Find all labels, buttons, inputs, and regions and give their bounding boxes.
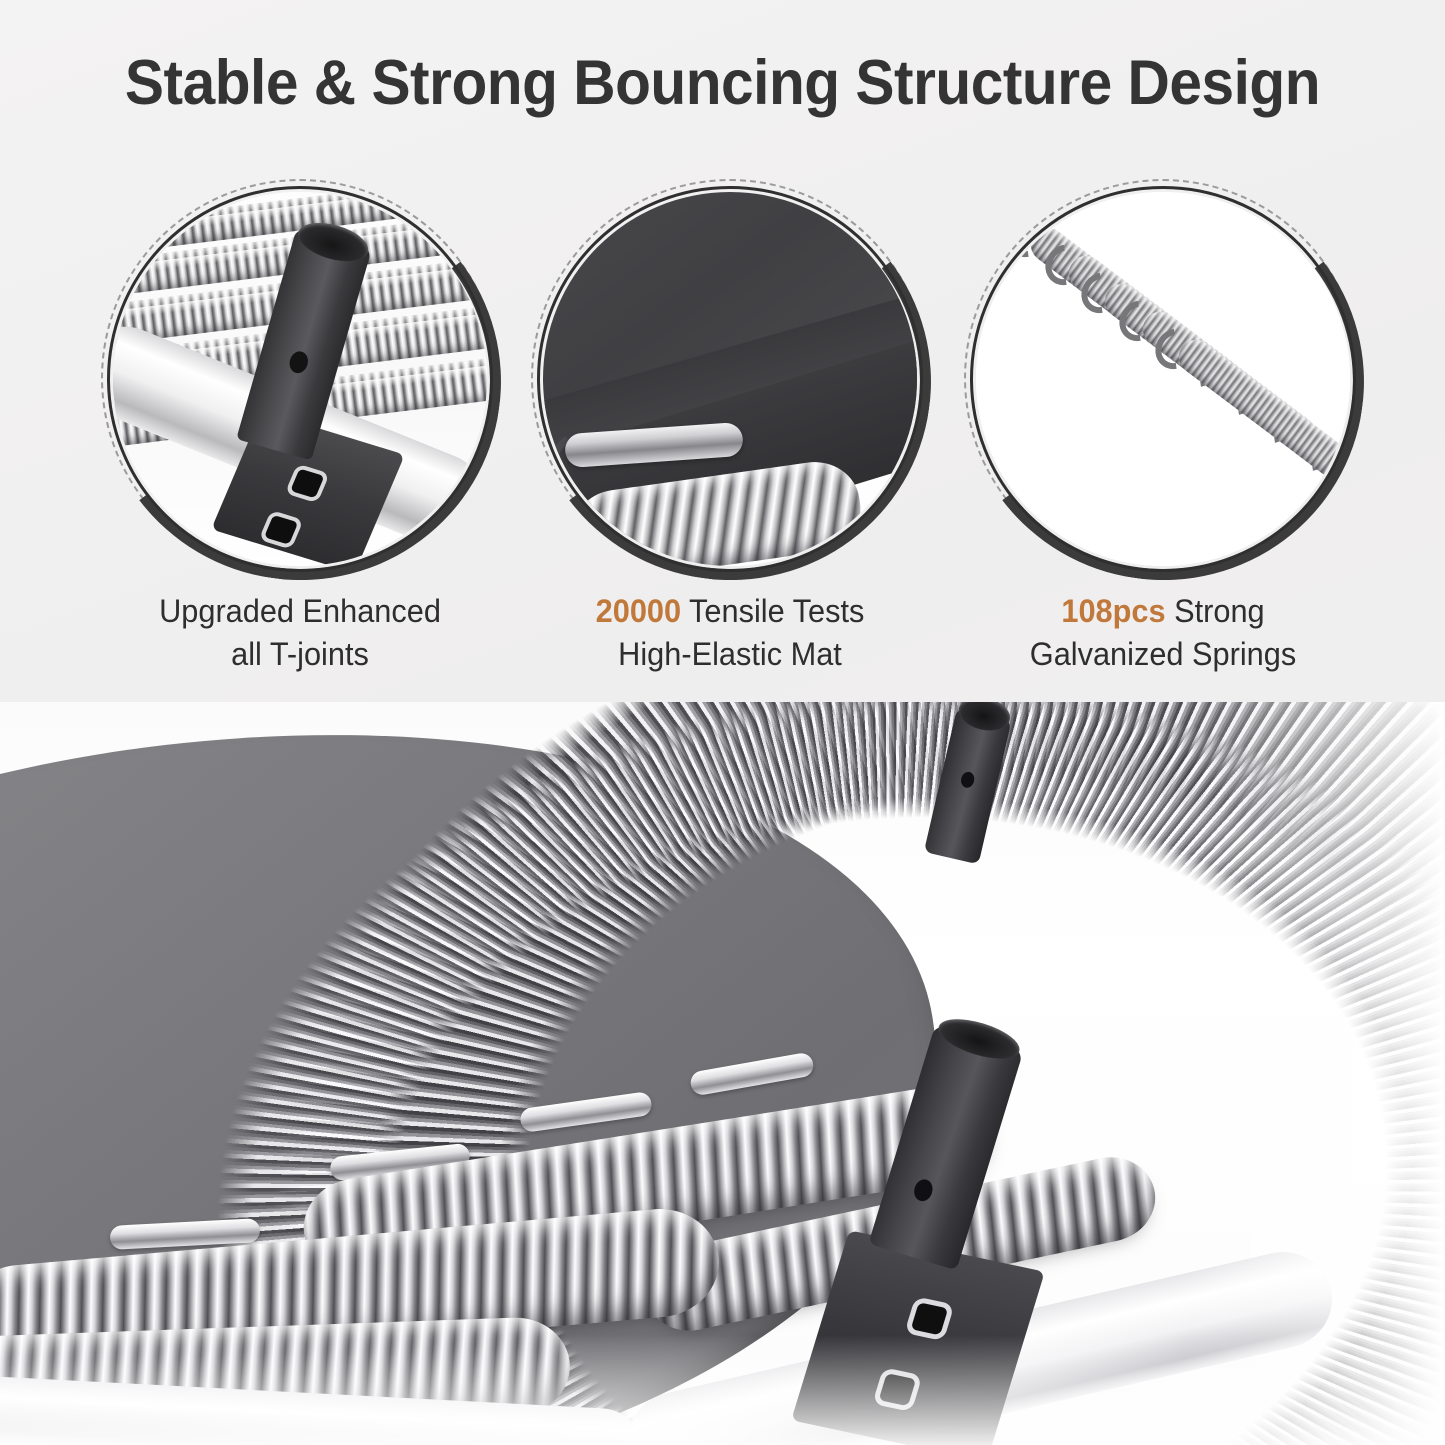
feature-card-springs: 108pcs Strong Galvanized Springs (963, 186, 1363, 696)
feature-image-tensile-tests (537, 186, 923, 572)
caption-highlight: 108pcs (1061, 593, 1165, 629)
caption-highlight: 20000 (596, 593, 681, 629)
caption-line-1: Strong (1166, 593, 1265, 629)
hero-product-photo (0, 702, 1445, 1445)
feature-image-springs (970, 186, 1356, 572)
feature-caption-springs: 108pcs Strong Galvanized Springs (971, 590, 1355, 676)
feature-card-tensile-tests: 20000 Tensile Tests High-Elastic Mat (530, 186, 930, 696)
page-title: Stable & Strong Bouncing Structure Desig… (51, 47, 1395, 119)
caption-line-1: Tensile Tests (681, 593, 864, 629)
feature-caption-tensile-tests: 20000 Tensile Tests High-Elastic Mat (538, 590, 922, 676)
caption-line-2: all T-joints (231, 636, 369, 672)
feature-caption-t-joints: Upgraded Enhanced all T-joints (108, 590, 492, 676)
t-joint-photo (113, 192, 487, 566)
caption-line-2: High-Elastic Mat (618, 636, 842, 672)
feature-image-t-joints (107, 186, 493, 572)
photo-fade-bottom (0, 1335, 1445, 1445)
feature-card-t-joints: Upgraded Enhanced all T-joints (100, 186, 500, 696)
caption-line-2: Galvanized Springs (1030, 636, 1296, 672)
infographic-page: Stable & Strong Bouncing Structure Desig… (0, 0, 1445, 1445)
mat-edge-photo (543, 192, 917, 566)
feature-row: Upgraded Enhanced all T-joints (0, 186, 1445, 696)
springs-photo (976, 192, 1350, 566)
caption-line-1: Upgraded Enhanced (159, 593, 441, 629)
photo-fade-right (1185, 702, 1445, 1445)
